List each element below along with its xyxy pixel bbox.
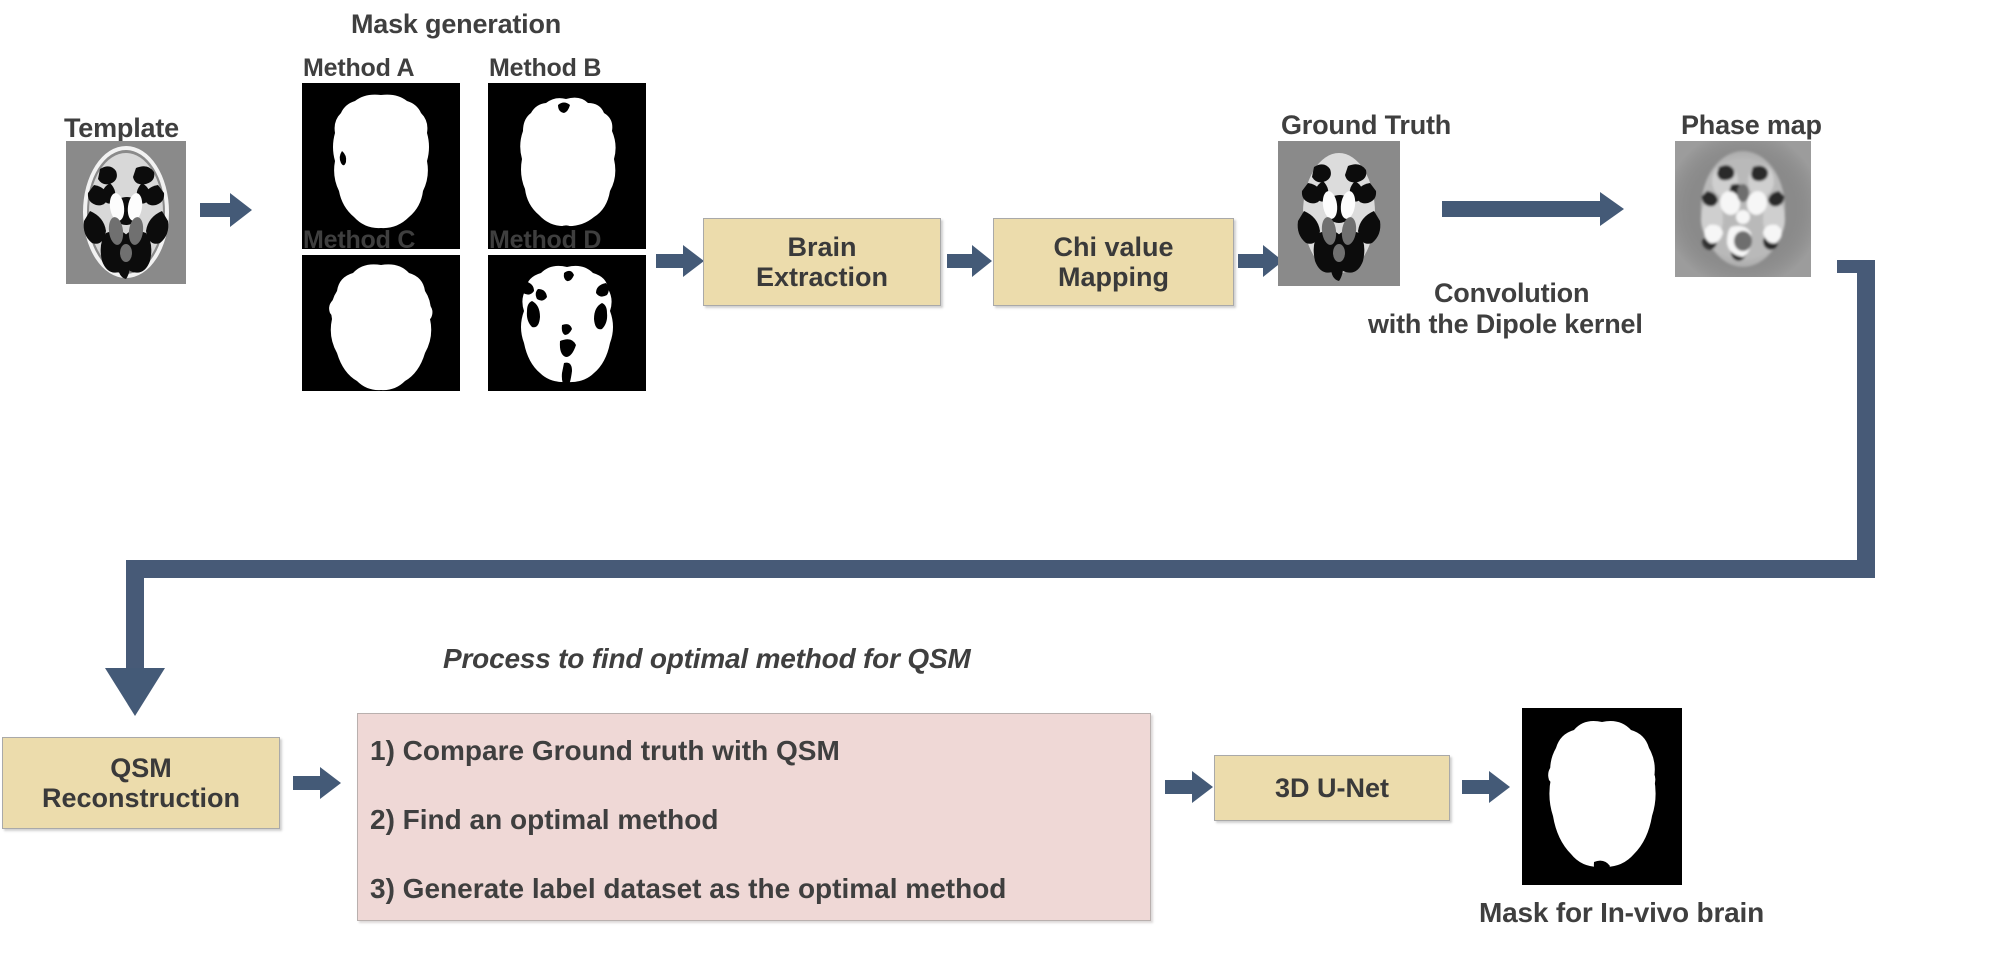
- method-d-label: Method D: [489, 226, 601, 255]
- method-a-mask-svg: [302, 83, 460, 249]
- process-title: Process to find optimal method for QSM: [443, 643, 971, 675]
- steps-item-3: 3) Generate label dataset as the optimal…: [370, 873, 1006, 905]
- chi-line1: Chi value: [1053, 232, 1173, 262]
- arrow-template-to-masks: [200, 193, 252, 227]
- method-d-mask-image: [488, 255, 646, 391]
- template-image: [66, 141, 186, 284]
- brain-extraction-text: Brain Extraction: [756, 232, 888, 292]
- qsm-line1: QSM: [110, 753, 172, 783]
- unet-box[interactable]: 3D U-Net: [1214, 755, 1450, 821]
- arrow-brain-extraction-to-chi: [947, 245, 992, 277]
- steps-item-2: 2) Find an optimal method: [370, 804, 718, 836]
- invivo-mask-svg: [1522, 708, 1682, 885]
- arrow-steps-to-unet: [1165, 771, 1213, 803]
- convolution-note-line1: Convolution: [1434, 278, 1589, 309]
- arrow-ground-truth-to-phase-map: [1442, 192, 1624, 226]
- mask-generation-title: Mask generation: [351, 9, 561, 40]
- method-a-label: Method A: [303, 54, 414, 83]
- ground-truth-label: Ground Truth: [1281, 110, 1451, 141]
- unet-label: 3D U-Net: [1275, 773, 1389, 803]
- chi-value-mapping-text: Chi value Mapping: [1053, 232, 1173, 292]
- chi-value-mapping-box[interactable]: Chi value Mapping: [993, 218, 1234, 306]
- template-brain-svg: [66, 141, 186, 284]
- brain-extraction-box[interactable]: Brain Extraction: [703, 218, 941, 306]
- method-b-label: Method B: [489, 54, 601, 83]
- elbow-connector-horizontal: [126, 560, 1875, 578]
- method-b-mask-svg: [488, 83, 646, 249]
- steps-list-box[interactable]: 1) Compare Ground truth with QSM 2) Find…: [357, 713, 1151, 921]
- down-arrow-to-qsm: [105, 668, 165, 716]
- method-b-mask-image: [488, 83, 646, 249]
- figure-canvas: Mask generation Template: [0, 0, 2000, 953]
- steps-item-1: 1) Compare Ground truth with QSM: [370, 735, 840, 767]
- template-label: Template: [64, 113, 179, 144]
- arrow-chi-to-ground-truth: [1238, 245, 1283, 277]
- phase-map-svg: [1675, 141, 1811, 277]
- chi-line2: Mapping: [1058, 262, 1169, 292]
- elbow-connector-left-vertical: [126, 560, 144, 680]
- qsm-reconstruction-text: QSM Reconstruction: [42, 753, 240, 813]
- method-c-label: Method C: [303, 226, 415, 255]
- brain-extraction-line1: Brain: [787, 232, 856, 262]
- qsm-line2: Reconstruction: [42, 783, 240, 813]
- invivo-mask-label: Mask for In-vivo brain: [1479, 897, 1764, 929]
- arrow-qsm-to-steps: [293, 767, 341, 799]
- method-c-mask-image: [302, 255, 460, 391]
- method-d-mask-svg: [488, 255, 646, 391]
- brain-extraction-line2: Extraction: [756, 262, 888, 292]
- method-a-mask-image: [302, 83, 460, 249]
- qsm-reconstruction-box[interactable]: QSM Reconstruction: [2, 737, 280, 829]
- method-c-mask-svg: [302, 255, 460, 391]
- invivo-mask-image: [1522, 708, 1682, 885]
- convolution-note-line2: with the Dipole kernel: [1368, 309, 1643, 340]
- ground-truth-brain-svg: [1278, 141, 1400, 286]
- arrow-unet-to-invivo-mask: [1462, 771, 1510, 803]
- phase-map-image: [1675, 141, 1811, 277]
- phase-map-label: Phase map: [1681, 110, 1822, 141]
- arrow-masks-to-brain-extraction: [656, 245, 704, 277]
- ground-truth-image: [1278, 141, 1400, 286]
- elbow-connector-right-vertical: [1857, 260, 1875, 573]
